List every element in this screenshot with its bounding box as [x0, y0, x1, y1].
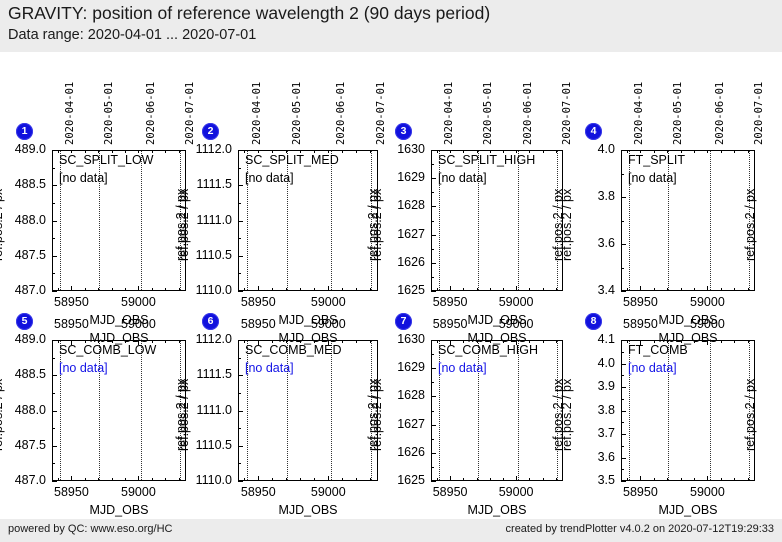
x-tick-major — [640, 476, 641, 481]
y-tick-label: 4.1 — [563, 332, 615, 346]
x-tick-minor — [748, 478, 749, 481]
x-tick-label-top: 58950 — [605, 317, 675, 331]
y-tick-minor — [621, 375, 624, 376]
x-tick-minor — [694, 478, 695, 481]
y-axis-title-right: ref.pos.2 / px — [743, 378, 757, 450]
y-tick — [621, 364, 626, 365]
y-tick-minor — [621, 399, 624, 400]
gridline-2020-06-01 — [710, 341, 711, 480]
x-tick-label: 59000 — [672, 485, 742, 499]
y-tick-minor — [621, 446, 624, 447]
y-tick-label: 4.0 — [563, 356, 615, 370]
x-tick-label: 58950 — [605, 485, 675, 499]
y-tick-label: 3.6 — [563, 450, 615, 464]
x-tick-label-top: 59000 — [672, 317, 742, 331]
y-tick — [621, 458, 626, 459]
y-tick-minor — [621, 469, 624, 470]
y-tick — [621, 481, 626, 482]
x-tick-minor — [627, 478, 628, 481]
x-axis-title: MJD_OBS — [621, 503, 755, 517]
x-tick-minor — [654, 478, 655, 481]
x-tick-major — [707, 476, 708, 481]
y-tick-minor — [621, 352, 624, 353]
panel-badge-8[interactable]: 8 — [585, 313, 602, 330]
x-tick-minor — [681, 478, 682, 481]
y-tick — [621, 434, 626, 435]
footer-bar: powered by QC: www.eso.org/HC created by… — [0, 519, 782, 542]
series-label: FT_COMB — [628, 343, 688, 357]
x-tick-minor — [721, 478, 722, 481]
y-tick — [621, 387, 626, 388]
footer-credit-left: powered by QC: www.eso.org/HC — [8, 523, 172, 535]
y-tick-minor — [621, 422, 624, 423]
y-axis-title: ref.pos.2 / px — [560, 378, 574, 450]
x-tick-minor — [734, 478, 735, 481]
panel-ft-comb: FT_COMB[no data]4.14.03.93.83.73.63.5589… — [0, 0, 782, 542]
x-tick-minor — [667, 478, 668, 481]
y-tick — [621, 411, 626, 412]
no-data-label: [no data] — [628, 361, 677, 375]
footer-credit-right: created by trendPlotter v4.0.2 on 2020-0… — [506, 523, 774, 535]
x-axis-title-top: MJD_OBS — [621, 331, 755, 345]
plot-frame: FT_COMB[no data] — [621, 340, 755, 481]
